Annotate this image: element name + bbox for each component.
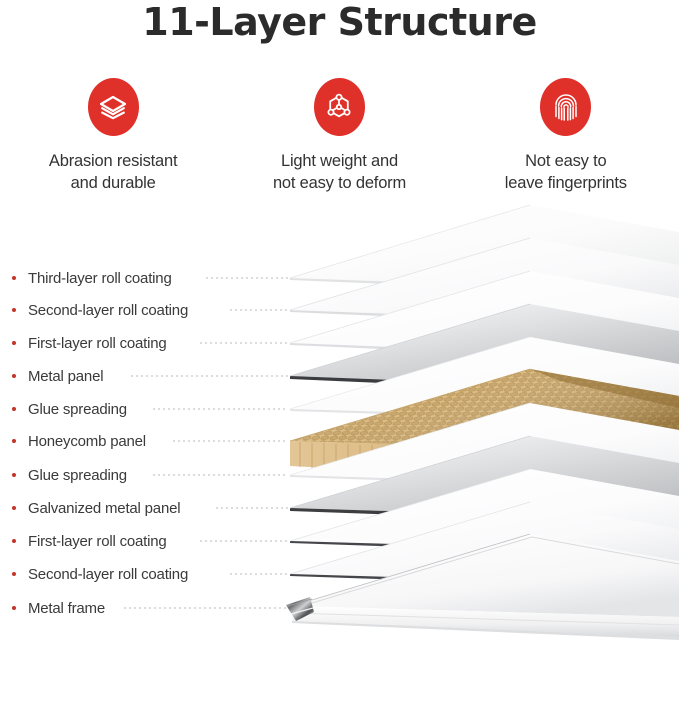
feature-item-abrasion: Abrasion resistant and durable (0, 78, 226, 194)
feature-badge (314, 78, 365, 136)
infographic-page: 11-Layer Structure Abrasion resistant an… (0, 0, 679, 702)
feature-label: Light weight and not easy to deform (273, 150, 406, 194)
page-title: 11-Layer Structure (0, 0, 679, 46)
feature-list: Abrasion resistant and durable (0, 78, 679, 194)
feature-badge (88, 78, 139, 136)
fingerprint-icon (554, 92, 578, 122)
feature-badge (540, 78, 591, 136)
leader-lines (0, 190, 679, 702)
molecule-icon (325, 93, 353, 121)
layers-icon (99, 94, 127, 120)
feature-item-fingerprint: Not easy to leave fingerprints (453, 78, 679, 194)
feature-label: Not easy to leave fingerprints (505, 150, 627, 194)
feature-item-lightweight: Light weight and not easy to deform (226, 78, 452, 194)
feature-label: Abrasion resistant and durable (49, 150, 177, 194)
